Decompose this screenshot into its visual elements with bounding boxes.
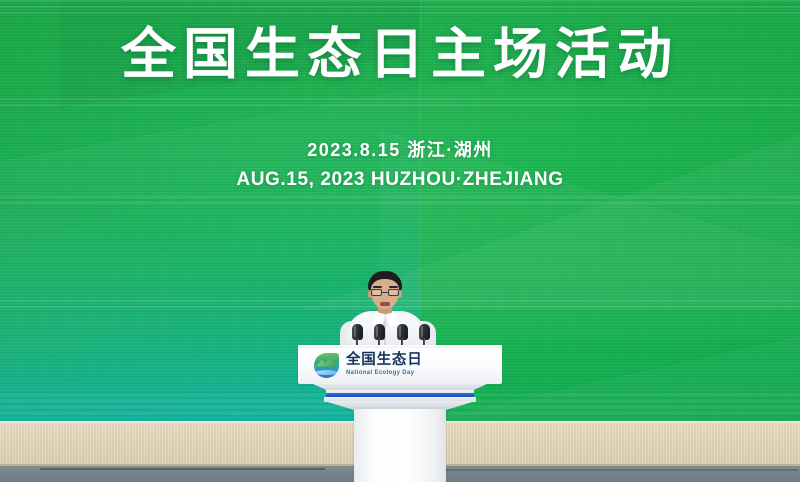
event-date-location-cn: 2023.8.15 浙江·湖州 [0,139,800,161]
speaker-eyebrow-right [389,286,398,288]
podium-top-highlight [298,345,502,348]
speaker-mouth [380,302,390,306]
podium-top-panel: 全国生态日 National Ecology Day [298,345,502,384]
emblem-mountain-shape [316,357,337,367]
mountain-water-emblem-icon [314,353,339,378]
speaker-eyebrow-left [373,286,382,288]
eyeglasses-icon [371,289,399,296]
podium-logo: 全国生态日 National Ecology Day [314,352,444,378]
event-main-title: 全国生态日主场活动 [0,24,800,84]
floor-shadow-line-left [40,468,325,470]
podium-logo-title-en: National Ecology Day [346,369,423,377]
podium-column [354,409,446,482]
podium-logo-text: 全国生态日 National Ecology Day [346,353,423,378]
speaker-podium: 全国生态日 National Ecology Day [298,345,502,482]
event-date-location-en: AUG.15, 2023 HUZHOU·ZHEJIANG [0,168,800,191]
podium-logo-title-cn: 全国生态日 [346,353,423,368]
photo-scene: 全国生态日主场活动 2023.8.15 浙江·湖州 AUG.15, 2023 H… [0,0,800,482]
emblem-water-shape [315,370,338,375]
